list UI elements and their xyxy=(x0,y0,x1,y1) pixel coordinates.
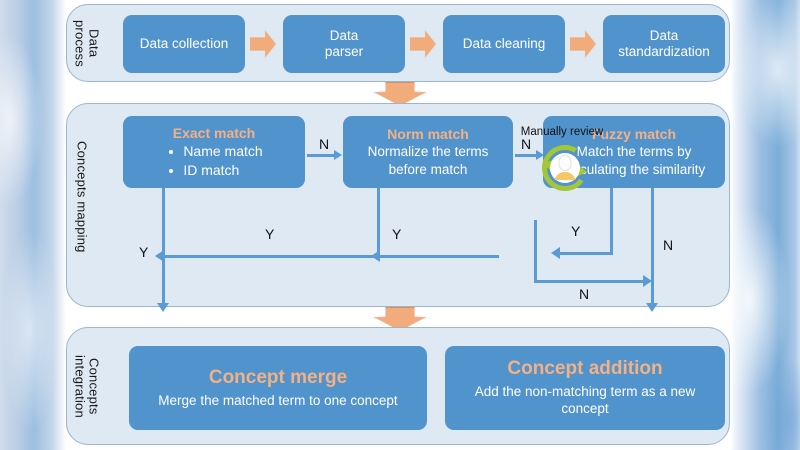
slide-background: Data process Data collection Data parser… xyxy=(0,0,800,450)
connector-norm-yes-horizontal xyxy=(163,255,379,258)
chevron-right-icon-3 xyxy=(570,29,596,59)
bullet-name-match: Name match xyxy=(165,142,262,160)
edge-label-fuzzy-yes: Y xyxy=(571,223,580,239)
person-refresh-icon xyxy=(539,142,591,194)
box-data-parser-title: Data parser xyxy=(325,28,363,59)
box-norm-match[interactable]: Norm match Normalize the terms before ma… xyxy=(343,116,513,188)
connector-norm-yes-vertical xyxy=(377,188,380,258)
connector-exact-to-norm xyxy=(307,154,335,157)
box-concept-merge[interactable]: Concept merge Merge the matched term to … xyxy=(129,346,427,430)
box-exact-match[interactable]: Exact match Name match ID match xyxy=(123,116,305,188)
box-concept-merge-header: Concept merge xyxy=(209,367,347,389)
section-label-concepts-integration: Concepts integration xyxy=(73,334,100,438)
manually-review-caption: Manually review xyxy=(502,126,622,138)
connector-review-no-horizontal xyxy=(534,280,644,283)
section-concepts-integration: Concepts integration Concept merge Merge… xyxy=(66,327,730,445)
section-label-data-process: Data process xyxy=(73,11,100,75)
box-data-cleaning[interactable]: Data cleaning xyxy=(443,15,565,73)
box-data-standardization[interactable]: Data standardization xyxy=(603,15,725,73)
chevron-right-icon-2 xyxy=(410,29,436,59)
edge-label-exact-yes: Y xyxy=(139,244,148,260)
section-concepts-mapping: Concepts mapping Exact match Name match … xyxy=(66,103,730,307)
bullet-id-match: ID match xyxy=(165,161,262,179)
box-data-cleaning-title: Data cleaning xyxy=(463,36,546,52)
edge-label-exact-to-norm: N xyxy=(319,136,329,152)
box-norm-match-header: Norm match xyxy=(387,126,469,142)
box-exact-match-header: Exact match xyxy=(173,125,255,141)
connector-review-no-vertical xyxy=(534,220,537,282)
box-concept-addition-body: Add the non-matching term as a new conce… xyxy=(451,383,719,418)
box-concept-addition-header: Concept addition xyxy=(507,358,662,380)
section-label-concepts-mapping: Concepts mapping xyxy=(75,122,89,272)
section-data-process: Data process Data collection Data parser… xyxy=(66,4,730,82)
box-concept-addition[interactable]: Concept addition Add the non-matching te… xyxy=(445,346,725,430)
edge-label-review-yes-left: Y xyxy=(392,226,401,242)
edge-label-norm-yes: Y xyxy=(265,226,274,242)
box-data-standardization-title: Data standardization xyxy=(618,28,710,59)
connector-review-yes-left xyxy=(379,255,499,258)
box-norm-match-body: Normalize the terms before match xyxy=(349,143,507,178)
box-data-parser[interactable]: Data parser xyxy=(283,15,405,73)
box-exact-match-bullets: Name match ID match xyxy=(165,142,262,179)
box-data-collection-title: Data collection xyxy=(140,36,229,52)
edge-label-fuzzy-no: N xyxy=(663,237,673,253)
box-data-collection[interactable]: Data collection xyxy=(123,15,245,73)
manually-review-group[interactable]: Manually review xyxy=(502,126,622,202)
connector-fuzzy-yes-horizontal xyxy=(559,252,612,255)
chevron-right-icon-1 xyxy=(250,29,276,59)
connector-exact-yes-down xyxy=(162,188,165,304)
box-concept-merge-body: Merge the matched term to one concept xyxy=(158,392,397,409)
edge-label-review-no: N xyxy=(579,286,589,302)
